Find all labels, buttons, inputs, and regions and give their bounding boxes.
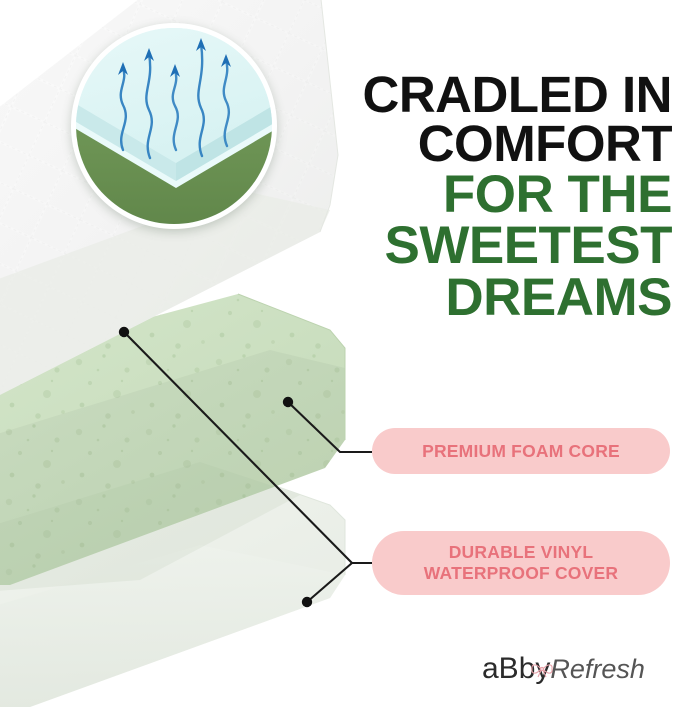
brand-logo-text: aBbyRefresh xyxy=(482,652,645,686)
headline-line-4: SWEETEST xyxy=(322,220,672,271)
inset-content xyxy=(76,28,272,224)
headline: CRADLED IN COMFORT FOR THE SWEETEST DREA… xyxy=(322,70,672,323)
brand-logo-part-3: Refresh xyxy=(550,654,645,684)
breathability-inset xyxy=(71,23,277,229)
airflow-diagram-icon xyxy=(76,28,272,224)
headline-line-2: COMFORT xyxy=(322,119,672,168)
headline-line-3: FOR THE xyxy=(322,169,672,220)
callout-vinyl-cover-label-line2: WATERPROOF COVER xyxy=(424,563,618,584)
brand-logo: aBbyRefresh xyxy=(482,650,652,690)
brand-logo-part-1: aB xyxy=(482,652,519,685)
headline-line-5: DREAMS xyxy=(322,272,672,323)
callout-vinyl-cover-label-line1: DURABLE VINYL xyxy=(449,542,594,563)
bow-icon xyxy=(530,660,554,678)
callout-durable-vinyl-waterproof-cover: DURABLE VINYL WATERPROOF COVER xyxy=(372,531,670,595)
headline-line-1: CRADLED IN xyxy=(322,70,672,119)
callout-foam-core-label: PREMIUM FOAM CORE xyxy=(422,441,620,462)
callout-premium-foam-core: PREMIUM FOAM CORE xyxy=(372,428,670,474)
product-infographic: CRADLED IN COMFORT FOR THE SWEETEST DREA… xyxy=(0,0,679,707)
